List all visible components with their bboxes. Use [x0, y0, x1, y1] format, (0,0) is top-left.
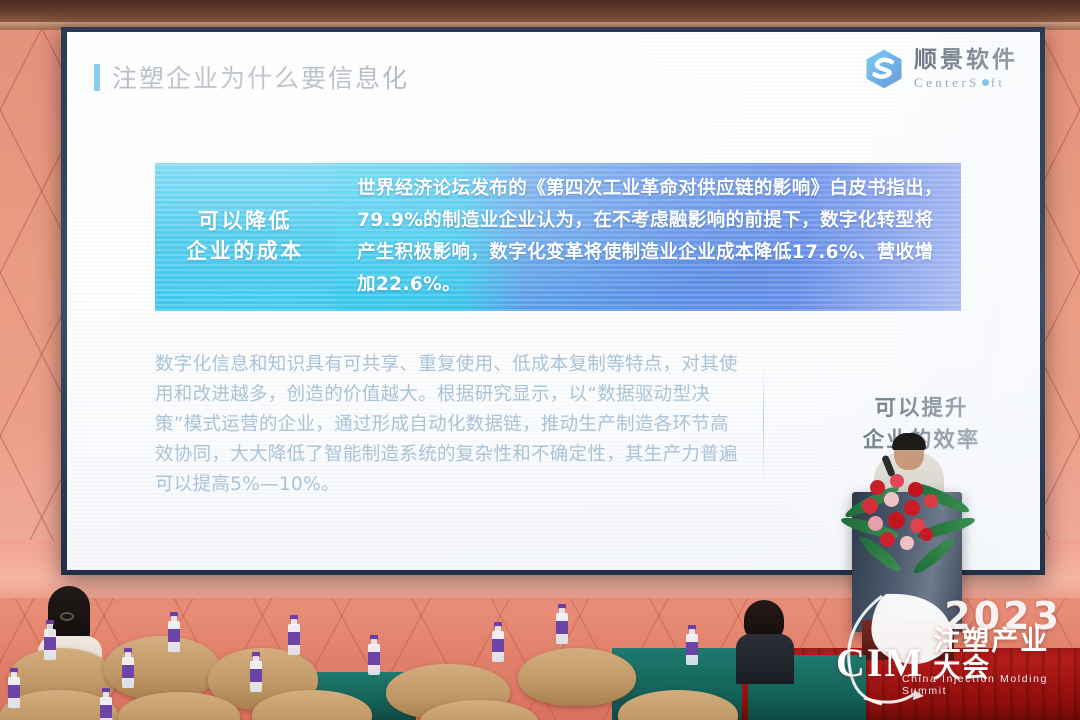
- digitalization-text-block: 数字化信息和知识具有可共享、重复使用、低成本复制等特点，对其使用和改进越多，创造…: [155, 350, 763, 500]
- podium-base: [862, 620, 954, 660]
- water-bottle: [250, 652, 262, 692]
- wef-report-text: 世界经济论坛发布的《第四次工业革命对供应链的影响》白皮书指出，79.9%的制造业…: [357, 173, 943, 300]
- audience-member: [736, 600, 794, 680]
- wef-report-panel: 世界经济论坛发布的《第四次工业革命对供应链的影响》白皮书指出，79.9%的制造业…: [335, 163, 961, 311]
- hexagon-s-logo-icon: [863, 48, 905, 90]
- water-bottle: [288, 615, 300, 655]
- cost-reduction-label: 可以降低 企业的成本: [186, 207, 304, 267]
- speaker-hair: [892, 433, 926, 450]
- water-bottle: [100, 688, 112, 720]
- water-bottle: [368, 635, 380, 675]
- logo-cn-text: 顺景软件: [914, 49, 1018, 72]
- slide-title: 注塑企业为什么要信息化: [94, 59, 409, 95]
- logo-en-text: CenterS ft: [914, 76, 1018, 89]
- water-bottle: [686, 625, 698, 665]
- logo-en-prefix: CenterS: [914, 76, 980, 89]
- water-bottle: [492, 622, 504, 662]
- cost-reduction-label-line2: 企业的成本: [186, 237, 304, 267]
- cost-reduction-callout: 可以降低 企业的成本: [155, 163, 335, 311]
- water-bottle: [168, 612, 180, 652]
- logo-dot-icon: [982, 79, 989, 86]
- conference-room-photo: 注塑企业为什么要信息化 顺景软件: [0, 0, 1080, 720]
- water-bottle: [44, 620, 56, 660]
- logo-en-suffix: ft: [991, 76, 1006, 89]
- ceiling-beam: [0, 0, 1080, 30]
- water-bottle: [122, 648, 134, 688]
- flower-arrangement: [846, 470, 974, 575]
- audience-torso: [736, 634, 794, 684]
- cost-reduction-label-line1: 可以降低: [186, 207, 304, 237]
- cost-reduction-band: 可以降低 企业的成本 世界经济论坛发布的《第四次工业革命对供应链的影响》白皮书指…: [155, 163, 961, 311]
- efficiency-label-line1: 可以提升: [863, 393, 981, 425]
- company-logo: 顺景软件 CenterS ft: [863, 48, 1018, 90]
- water-bottle: [556, 604, 568, 644]
- digitalization-text: 数字化信息和知识具有可共享、重复使用、低成本复制等特点，对其使用和改进越多，创造…: [155, 350, 741, 500]
- logo-wordmark: 顺景软件 CenterS ft: [914, 49, 1018, 89]
- hair-clip: [60, 612, 74, 621]
- chair: [518, 648, 636, 706]
- water-bottle: [8, 668, 20, 708]
- slide-title-text: 注塑企业为什么要信息化: [112, 59, 409, 95]
- title-accent-bar: [94, 64, 100, 91]
